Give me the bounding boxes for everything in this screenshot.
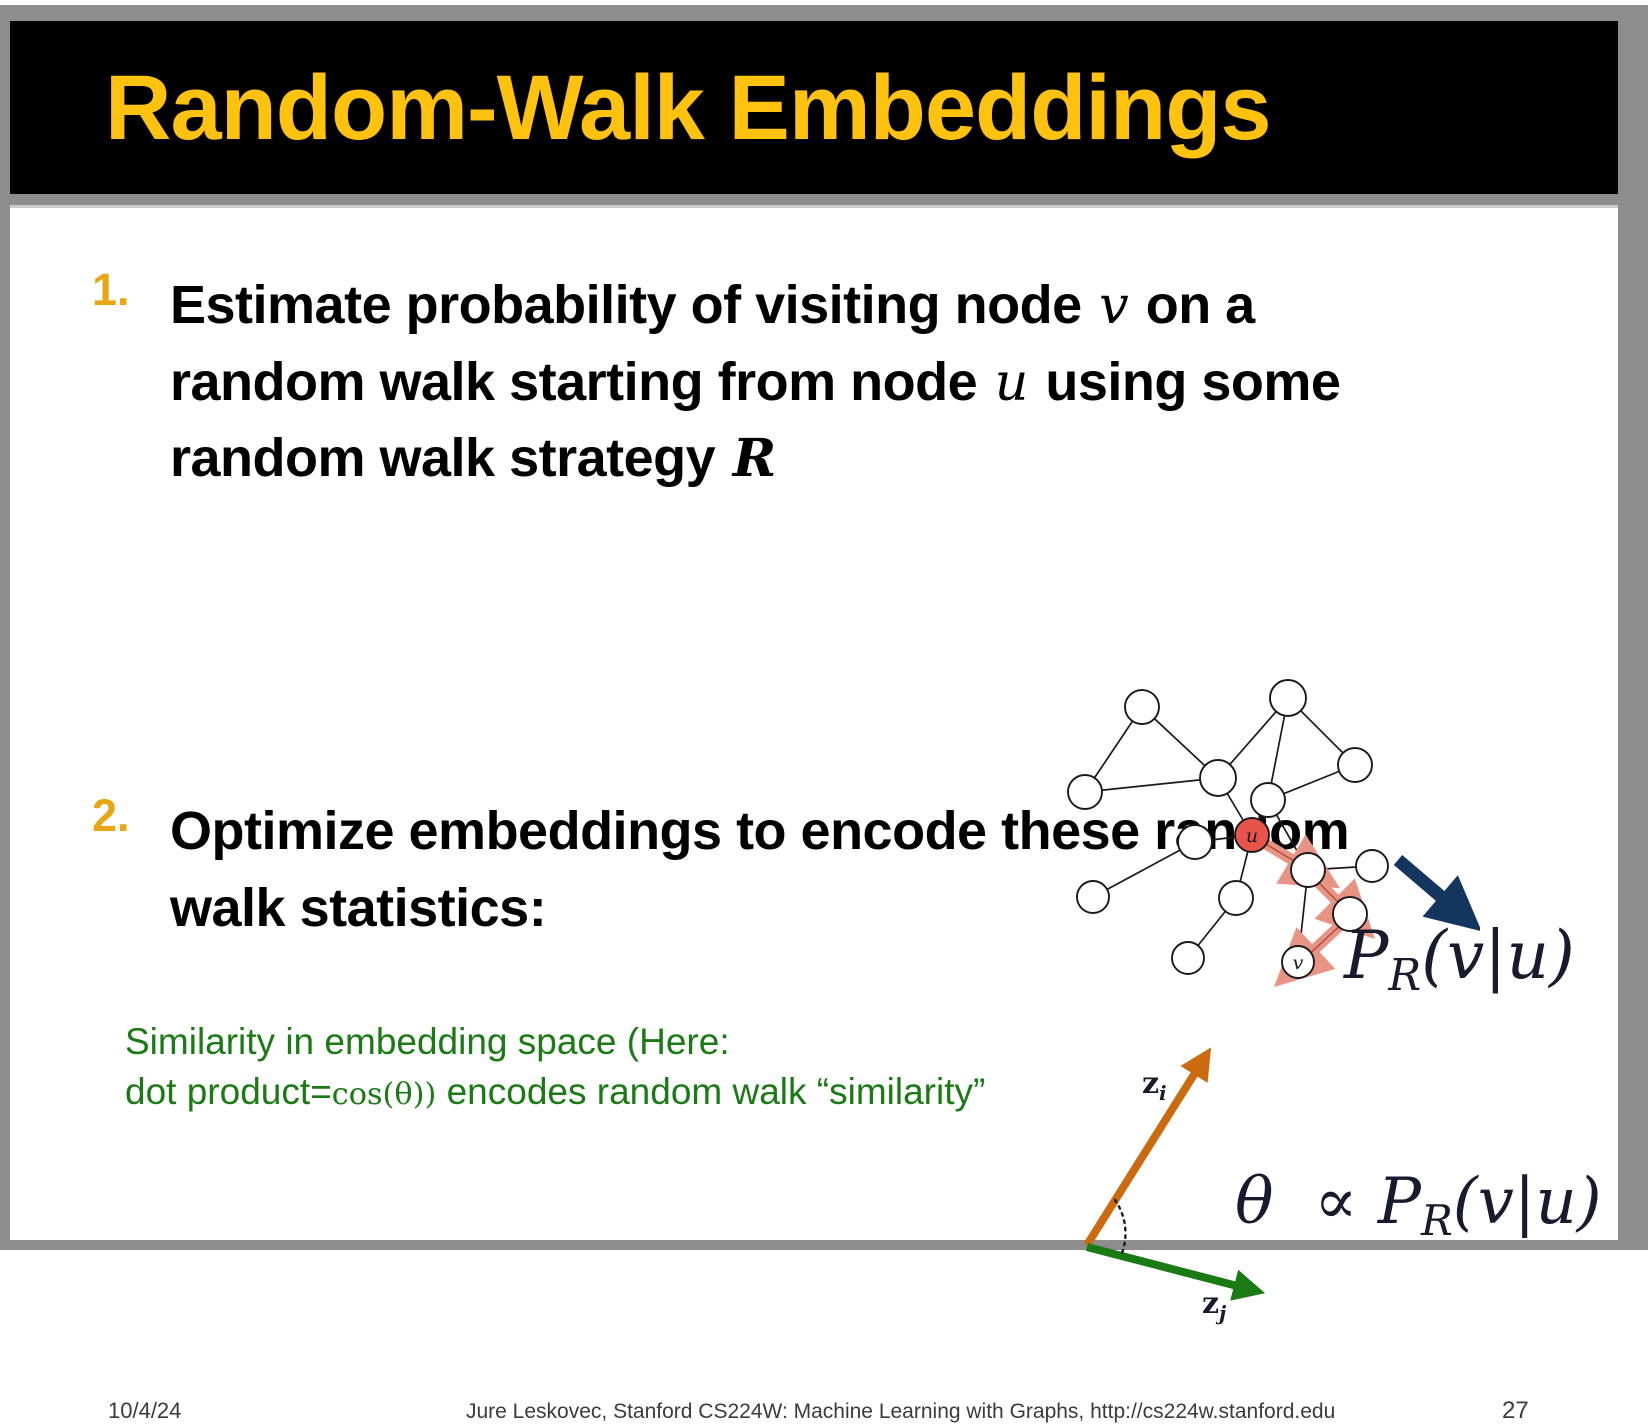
bullet-1-seg-0: Estimate probability of visiting node xyxy=(170,275,1096,335)
slide-root: Random-Walk Embeddings 1. Estimate proba… xyxy=(0,0,1648,1250)
bullet-1-math-v: v xyxy=(1096,275,1131,336)
graph-node xyxy=(1172,942,1204,974)
footer-attribution: Jure Leskovec, Stanford CS224W: Machine … xyxy=(466,1400,1335,1424)
angle-arc-icon xyxy=(1115,1200,1125,1253)
caption-line-2: dot product=cos(θ)) encodes random walk … xyxy=(125,1067,985,1117)
formula-r-subscript: R xyxy=(1388,951,1421,1001)
bullet-number-2: 2. xyxy=(92,793,170,838)
bullet-1-math-r: R xyxy=(730,428,779,489)
graph-node xyxy=(1125,690,1159,724)
footer-page-number: 27 xyxy=(1502,1397,1529,1425)
probability-formula-proportional: θ ∝ PR(v|u) xyxy=(1235,1165,1602,1245)
caption-line-2-suffix: encodes random walk “similarity” xyxy=(436,1071,985,1112)
vector-zi-label: zi xyxy=(1142,1066,1167,1105)
bullet-item-1: 1. Estimate probability of visiting node… xyxy=(92,267,1432,497)
graph-node xyxy=(1200,760,1236,796)
vector-zj-arrow xyxy=(1087,1247,1245,1288)
graph-node xyxy=(1077,881,1109,913)
graph-node-u-label: u xyxy=(1246,825,1258,847)
graph-node xyxy=(1356,850,1388,882)
proportional-symbol: ∝ xyxy=(1314,1165,1357,1239)
bullet-1-math-u: u xyxy=(992,352,1031,413)
body-top-divider xyxy=(10,205,1618,208)
slide-title-bar: Random-Walk Embeddings xyxy=(10,21,1618,194)
top-edge-strip xyxy=(0,0,1648,5)
caption-line-2-prefix: dot product= xyxy=(125,1071,332,1112)
formula2-r-subscript: R xyxy=(1421,1196,1453,1245)
formula-p-symbol: P xyxy=(1344,917,1388,994)
caption-line-1: Similarity in embedding space (Here: xyxy=(125,1017,985,1067)
footer-date: 10/4/24 xyxy=(108,1398,181,1424)
bullet-text-1: Estimate probability of visiting node v … xyxy=(170,267,1432,497)
graph-node xyxy=(1219,881,1253,915)
implies-arrow-icon xyxy=(1398,860,1452,906)
graph-node xyxy=(1270,680,1306,716)
slide-title: Random-Walk Embeddings xyxy=(105,62,1271,154)
graph-edges xyxy=(1085,698,1372,962)
similarity-caption: Similarity in embedding space (Here: dot… xyxy=(125,1017,985,1118)
bullet-number-1: 1. xyxy=(92,267,170,312)
slide-body: 1. Estimate probability of visiting node… xyxy=(10,205,1618,1240)
graph-node xyxy=(1251,783,1285,817)
theta-symbol: θ xyxy=(1235,1165,1274,1239)
formula-args: (v|u) xyxy=(1421,917,1575,994)
graph-node xyxy=(1178,825,1212,859)
graph-node xyxy=(1291,853,1325,887)
caption-cos-theta: cos(θ)) xyxy=(332,1077,437,1112)
graph-node xyxy=(1338,748,1372,782)
graph-node-v-label: v xyxy=(1293,952,1304,974)
probability-formula-main: PR(v|u) xyxy=(1344,917,1575,1001)
graph-nodes xyxy=(1068,680,1388,978)
formula2-p-symbol: P xyxy=(1378,1165,1421,1239)
formula2-args: (v|u) xyxy=(1453,1165,1602,1239)
graph-node xyxy=(1068,775,1102,809)
vector-zj-label: zj xyxy=(1202,1286,1227,1325)
